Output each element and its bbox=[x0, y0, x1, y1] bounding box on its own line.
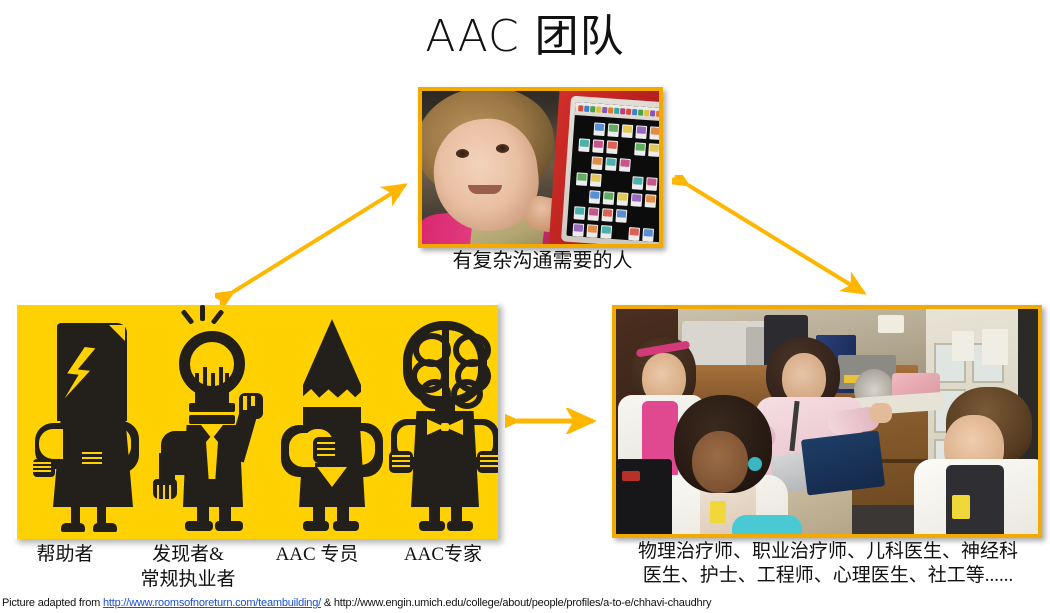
arrow-right-diagonal bbox=[672, 175, 882, 305]
face bbox=[692, 431, 748, 493]
tablet-toolbar bbox=[575, 102, 659, 122]
wall-poster-left bbox=[952, 331, 974, 361]
brain-head-figure-icon bbox=[389, 319, 498, 533]
arrow-middle-horizontal bbox=[505, 408, 605, 434]
attribution-plain-url: http://www.engin.umich.edu/college/about… bbox=[334, 597, 711, 609]
attribution-link[interactable]: http://www.roomsofnoreturn.com/teambuild… bbox=[103, 597, 321, 609]
hand-right bbox=[870, 403, 892, 423]
child-eye-left bbox=[456, 149, 469, 158]
attribution-separator: & bbox=[321, 597, 334, 609]
tablet-bezel bbox=[561, 96, 659, 244]
role-label-aac-specialist: AAC 专员 bbox=[258, 542, 376, 567]
role-label-discoverer: 发现者& 常规执业者 bbox=[118, 542, 258, 592]
photo-content bbox=[616, 309, 1038, 534]
lightning-head-figure-icon bbox=[35, 319, 147, 533]
role-label-discoverer-line1: 发现者& bbox=[118, 542, 258, 567]
arrow-left-diagonal bbox=[215, 175, 425, 305]
center-photo-caption: 有复杂沟通需要的人 bbox=[400, 248, 685, 274]
team-photo-caption-line1: 物理治疗师、职业治疗师、儿科医生、神经科 bbox=[612, 540, 1044, 564]
id-badge bbox=[952, 495, 970, 519]
laptop-screen bbox=[801, 430, 885, 495]
child-mouth bbox=[468, 185, 502, 194]
wall-outlet bbox=[878, 315, 904, 333]
pencil-head-figure-icon bbox=[277, 317, 387, 533]
child-with-aac-tablet-photo[interactable] bbox=[418, 87, 663, 248]
child-eye-right bbox=[496, 144, 509, 153]
role-label-helper: 帮助者 bbox=[10, 542, 120, 567]
team-photo-caption: 物理治疗师、职业治疗师、儿科医生、神经科 医生、护士、工程师、心理医生、社工等.… bbox=[612, 540, 1044, 588]
attribution-prefix: Picture adapted from bbox=[2, 597, 103, 609]
lightbulb-head-figure-icon bbox=[153, 315, 271, 533]
attribution: Picture adapted from http://www.roomsofn… bbox=[2, 596, 711, 611]
id-badge bbox=[710, 501, 726, 523]
photo-content bbox=[422, 91, 659, 244]
team-photo-caption-line2: 医生、护士、工程师、心理医生、社工等...... bbox=[612, 564, 1044, 588]
role-label-aac-expert: AAC专家 bbox=[378, 542, 508, 567]
page-title: AAC 团队 bbox=[0, 8, 1050, 66]
team-roles-illustration-card[interactable] bbox=[14, 302, 498, 539]
tablet-protective-case bbox=[548, 91, 659, 244]
equipment-indicator bbox=[622, 471, 640, 481]
teal-folder bbox=[732, 515, 802, 534]
earring bbox=[748, 457, 762, 471]
role-label-discoverer-line2: 常规执业者 bbox=[118, 567, 258, 592]
clinical-team-meeting-photo[interactable] bbox=[612, 305, 1042, 538]
tablet-screen bbox=[566, 102, 659, 242]
wall-poster-right bbox=[982, 329, 1008, 365]
